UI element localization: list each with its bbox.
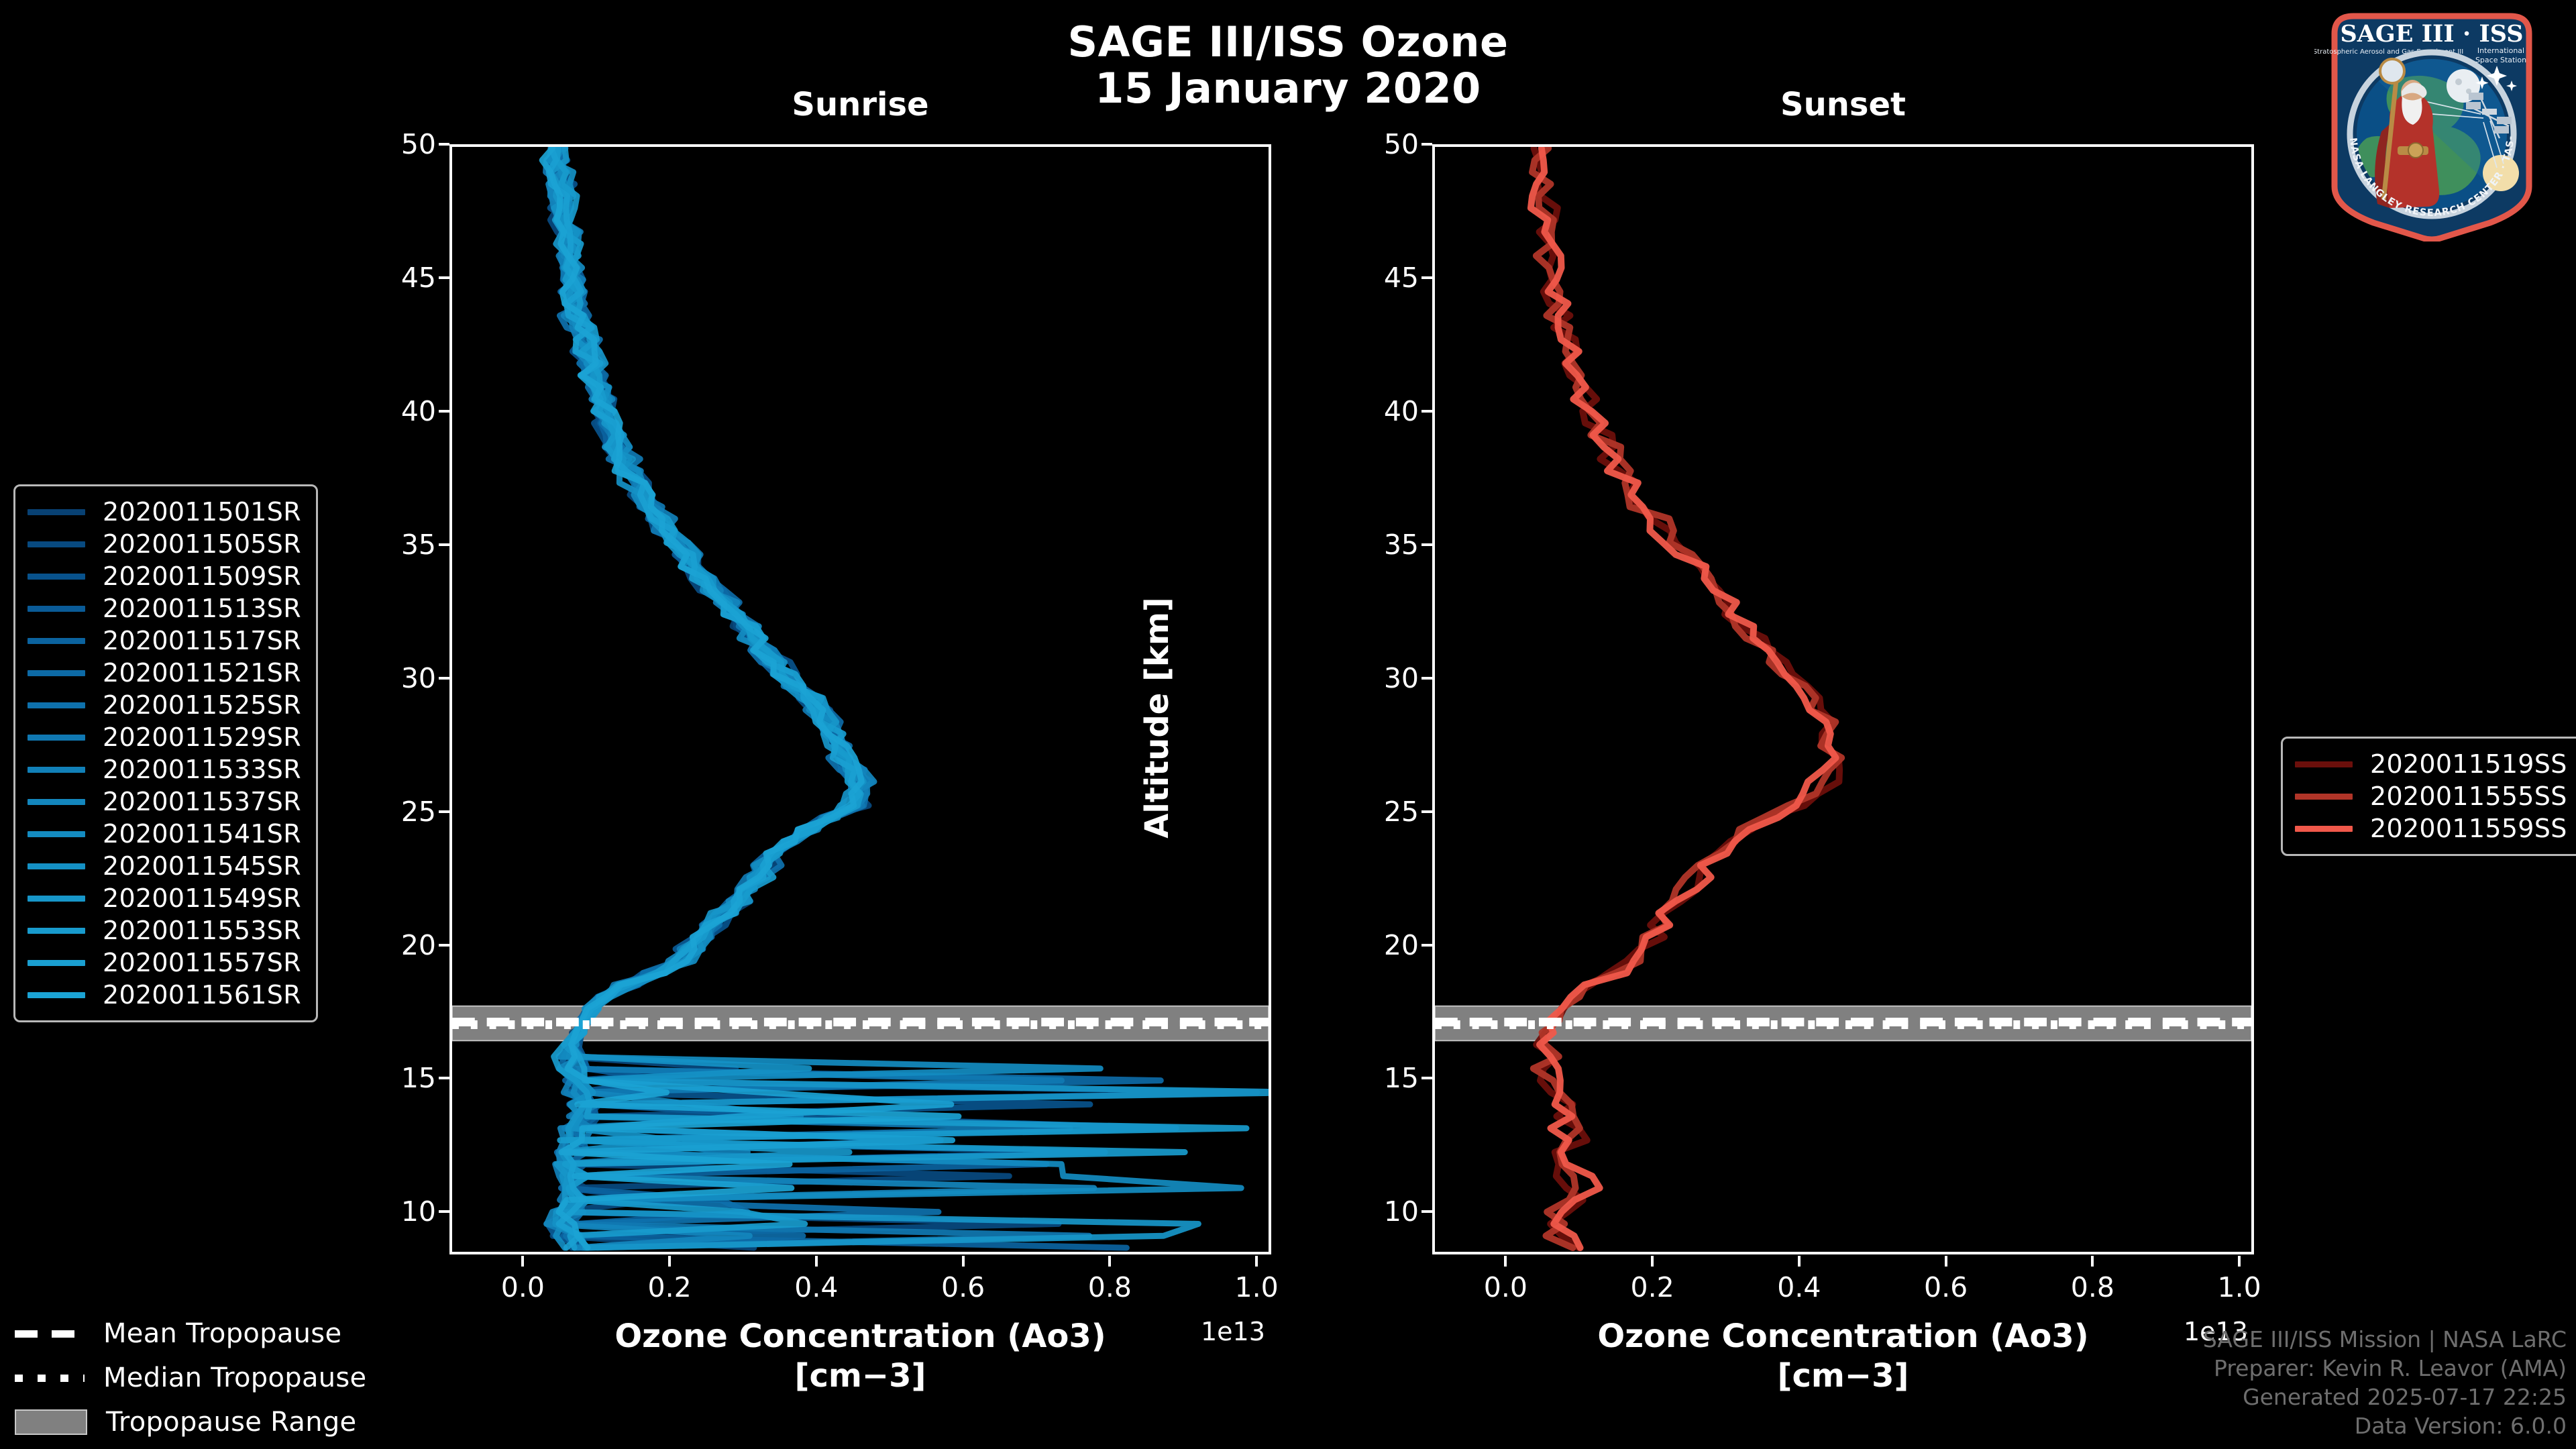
- sunrise-event-legend-label: 2020011557SR: [103, 948, 301, 977]
- sunrise-event-legend-color-swatch: [28, 928, 85, 934]
- sunset-x-tickmark: [2091, 1256, 2094, 1267]
- sunrise-event-legend-color-swatch: [28, 767, 85, 773]
- sunrise-event-legend-item[interactable]: 2020011525SR: [28, 689, 301, 721]
- sunrise-event-legend-label: 2020011537SR: [103, 787, 301, 816]
- sunrise-y-tick-15: 15: [401, 1062, 436, 1094]
- tropopause-legend-label: Mean Tropopause: [103, 1318, 341, 1349]
- sunset-x-tick-0.6: 0.6: [1924, 1271, 1968, 1303]
- sunrise-event-legend-item[interactable]: 2020011529SR: [28, 721, 301, 753]
- sunrise-event-legend-item[interactable]: 2020011549SR: [28, 882, 301, 914]
- sunrise-event-legend-label: 2020011545SR: [103, 851, 301, 881]
- sunrise-event-legend-color-swatch: [28, 638, 85, 644]
- sunrise-event-legend-label: 2020011513SR: [103, 594, 301, 623]
- sunset-x-tickmark: [1798, 1256, 1801, 1267]
- sunrise-event-legend-color-swatch: [28, 735, 85, 741]
- sunrise-event-legend-item[interactable]: 2020011541SR: [28, 818, 301, 850]
- sunrise-y-tick-45: 45: [401, 262, 436, 294]
- sunrise-x-axis-label-line2: [cm−3]: [449, 1356, 1271, 1396]
- sunrise-event-legend-label: 2020011501SR: [103, 497, 301, 527]
- sunset-y-axis-label: Altitude [km]: [1138, 517, 1176, 919]
- sunrise-event-legend-item[interactable]: 2020011537SR: [28, 786, 301, 818]
- sunset-y-tick-20: 20: [1384, 929, 1419, 961]
- sunrise-event-legend-item[interactable]: 2020011545SR: [28, 850, 301, 882]
- sunset-event-legend-label: 2020011555SS: [2370, 782, 2567, 811]
- sunrise-event-legend-color-swatch: [28, 992, 85, 998]
- ozone-profile-line: [1532, 148, 1841, 1248]
- sunrise-event-legend-item[interactable]: 2020011553SR: [28, 914, 301, 947]
- credits-mission: SAGE III/ISS Mission | NASA LaRC: [2203, 1326, 2567, 1354]
- sunset-x-tickmark: [1945, 1256, 1947, 1267]
- sunrise-y-tickmark: [439, 410, 449, 413]
- sunrise-event-legend-color-swatch: [28, 606, 85, 612]
- tropopause-legend-label: Tropopause Range: [106, 1407, 356, 1438]
- credits-generated: Generated 2025-07-17 22:25: [2203, 1383, 2567, 1412]
- sunrise-event-legend-label: 2020011529SR: [103, 722, 301, 752]
- sunset-event-legend[interactable]: 2020011519SS2020011555SS2020011559SS: [2281, 737, 2576, 856]
- sunset-event-legend-item[interactable]: 2020011559SS: [2295, 812, 2567, 845]
- sunrise-event-legend-label: 2020011521SR: [103, 658, 301, 688]
- credits-block: SAGE III/ISS Mission | NASA LaRC Prepare…: [2203, 1326, 2567, 1441]
- sunrise-event-legend-item[interactable]: 2020011521SR: [28, 657, 301, 689]
- tropopause-range-swatch-icon: [15, 1409, 87, 1435]
- tropopause-dashed-swatch-icon: [15, 1330, 85, 1338]
- sunrise-panel-subtitle: Sunrise: [449, 86, 1271, 123]
- sunrise-event-legend-label: 2020011517SR: [103, 626, 301, 655]
- title-line-1: SAGE III/ISS Ozone: [0, 19, 2576, 65]
- sunset-x-tick-labels: 0.00.20.40.60.81.0: [1432, 1271, 2254, 1311]
- sunrise-event-legend-item[interactable]: 2020011557SR: [28, 947, 301, 979]
- sunrise-event-legend-label: 2020011525SR: [103, 690, 301, 720]
- sunrise-event-legend-color-swatch: [28, 541, 85, 547]
- sunset-event-legend-color-swatch: [2295, 761, 2353, 767]
- tropopause-legend: Mean TropopauseMedian TropopauseTropopau…: [15, 1311, 366, 1444]
- sunrise-y-tickmark: [439, 143, 449, 146]
- sunrise-event-legend-color-swatch: [28, 799, 85, 805]
- sunset-y-tickmark: [1421, 1210, 1432, 1213]
- sunrise-y-tick-40: 40: [401, 395, 436, 427]
- sunrise-event-legend[interactable]: 2020011501SR2020011505SR2020011509SR2020…: [13, 484, 318, 1022]
- sunset-plot-canvas: [1435, 147, 2251, 1252]
- sunrise-event-legend-color-swatch: [28, 670, 85, 676]
- sunset-y-tick-10: 10: [1384, 1195, 1419, 1228]
- sunset-x-tick-0.2: 0.2: [1631, 1271, 1674, 1303]
- sunrise-event-legend-item[interactable]: 2020011509SR: [28, 560, 301, 592]
- sunrise-event-legend-color-swatch: [28, 509, 85, 515]
- sunrise-event-legend-item[interactable]: 2020011513SR: [28, 592, 301, 625]
- sunrise-y-tickmark: [439, 543, 449, 546]
- sunrise-x-tick-0.2: 0.2: [648, 1271, 692, 1303]
- sunrise-y-tickmark: [439, 276, 449, 279]
- credits-data-version: Data Version: 6.0.0: [2203, 1412, 2567, 1441]
- sunrise-x-axis-label: Ozone Concentration (Ao3) [cm−3]: [449, 1317, 1271, 1395]
- sunrise-y-tickmark: [439, 1077, 449, 1079]
- sunset-x-tick-0.0: 0.0: [1484, 1271, 1527, 1303]
- sunrise-event-legend-label: 2020011533SR: [103, 755, 301, 784]
- sunset-event-legend-label: 2020011519SS: [2370, 749, 2567, 779]
- sunset-y-tick-40: 40: [1384, 395, 1419, 427]
- sunset-y-tick-15: 15: [1384, 1062, 1419, 1094]
- sunrise-x-tick-marks: [449, 1254, 1271, 1268]
- patch-subtitle-right-2: Space Station: [2475, 56, 2526, 64]
- sunset-x-tickmark: [1651, 1256, 1654, 1267]
- sunset-y-tickmark: [1421, 1077, 1432, 1079]
- sunrise-x-tickmark: [815, 1256, 818, 1267]
- sunrise-event-legend-color-swatch: [28, 863, 85, 869]
- sunset-event-legend-item[interactable]: 2020011519SS: [2295, 748, 2567, 780]
- sunrise-event-legend-label: 2020011505SR: [103, 529, 301, 559]
- sunset-x-tickmark: [1504, 1256, 1507, 1267]
- sunrise-y-tickmark: [439, 944, 449, 947]
- sunrise-x-tick-1.0: 1.0: [1235, 1271, 1279, 1303]
- sunset-y-tick-30: 30: [1384, 662, 1419, 694]
- sunrise-y-tickmark: [439, 677, 449, 680]
- tropopause-dotted-swatch-icon: [15, 1375, 85, 1382]
- sunrise-event-legend-label: 2020011549SR: [103, 883, 301, 913]
- sunset-y-tickmark: [1421, 543, 1432, 546]
- sunrise-x-tickmark: [521, 1256, 524, 1267]
- sunset-panel-subtitle: Sunset: [1432, 86, 2254, 123]
- sunrise-x-tick-labels: 0.00.20.40.60.81.0: [449, 1271, 1271, 1311]
- sunset-x-tick-1.0: 1.0: [2218, 1271, 2261, 1303]
- sunset-x-tick-0.8: 0.8: [2071, 1271, 2114, 1303]
- sunrise-event-legend-color-swatch: [28, 702, 85, 708]
- sunrise-event-legend-color-swatch: [28, 574, 85, 580]
- credits-preparer: Preparer: Kevin R. Leavor (AMA): [2203, 1354, 2567, 1383]
- sunset-y-tick-50: 50: [1384, 128, 1419, 160]
- sunset-y-tick-25: 25: [1384, 796, 1419, 828]
- sunrise-x-tick-0.0: 0.0: [501, 1271, 545, 1303]
- sunrise-event-legend-color-swatch: [28, 831, 85, 837]
- sunrise-y-tickmark: [439, 1210, 449, 1213]
- sunrise-event-legend-item[interactable]: 2020011533SR: [28, 753, 301, 786]
- sage-patch-icon: SAGE III · ISS Stratospheric Aerosol and…: [2314, 7, 2549, 241]
- sunrise-y-tick-20: 20: [401, 929, 436, 961]
- sunset-x-tick-marks: [1432, 1254, 2254, 1268]
- sunrise-event-legend-label: 2020011509SR: [103, 561, 301, 591]
- sunrise-y-tick-25: 25: [401, 796, 436, 828]
- sunset-y-tick-marks: [1419, 144, 1432, 1254]
- tropopause-legend-label: Median Tropopause: [103, 1362, 366, 1393]
- sunset-plot-area[interactable]: [1432, 144, 2254, 1254]
- sunrise-event-legend-item[interactable]: 2020011561SR: [28, 979, 301, 1011]
- sunset-y-tickmark: [1421, 276, 1432, 279]
- sunrise-event-legend-color-swatch: [28, 896, 85, 902]
- sunrise-x-tickmark: [1108, 1256, 1111, 1267]
- sunrise-event-legend-label: 2020011553SR: [103, 916, 301, 945]
- sunset-y-tickmark: [1421, 810, 1432, 813]
- sunrise-event-legend-item[interactable]: 2020011517SR: [28, 625, 301, 657]
- sage-mission-patch: SAGE III · ISS Stratospheric Aerosol and…: [2314, 7, 2549, 244]
- sunrise-event-legend-item[interactable]: 2020011505SR: [28, 528, 301, 560]
- sunrise-event-legend-color-swatch: [28, 960, 85, 966]
- sunset-x-axis-label-line2: [cm−3]: [1432, 1356, 2254, 1396]
- sunrise-x-tickmark: [1255, 1256, 1258, 1267]
- ozone-profile-line: [1531, 148, 1836, 1248]
- sunset-x-axis-label: Ozone Concentration (Ao3) [cm−3]: [1432, 1317, 2254, 1395]
- sunrise-y-tick-10: 10: [401, 1195, 436, 1228]
- sunrise-x-tick-0.8: 0.8: [1088, 1271, 1132, 1303]
- tropopause-legend-item: Tropopause Range: [15, 1400, 366, 1444]
- sunset-y-tickmark: [1421, 677, 1432, 680]
- sunrise-x-tickmark: [962, 1256, 965, 1267]
- sunset-event-legend-item[interactable]: 2020011555SS: [2295, 780, 2567, 812]
- patch-title: SAGE III · ISS: [2340, 20, 2523, 48]
- sunset-y-tickmark: [1421, 143, 1432, 146]
- sunrise-event-legend-label: 2020011541SR: [103, 819, 301, 849]
- sunrise-y-tickmark: [439, 810, 449, 813]
- sunset-y-tick-labels: 101520253035404550: [1251, 144, 1419, 1254]
- sunset-y-tick-45: 45: [1384, 262, 1419, 294]
- sunset-x-tickmark: [2238, 1256, 2241, 1267]
- sunrise-y-tick-30: 30: [401, 662, 436, 694]
- sunrise-x-tick-0.4: 0.4: [794, 1271, 838, 1303]
- sunrise-x-tick-0.6: 0.6: [941, 1271, 985, 1303]
- sunset-y-tickmark: [1421, 410, 1432, 413]
- sunrise-y-tick-50: 50: [401, 128, 436, 160]
- sunrise-x-tickmark: [668, 1256, 671, 1267]
- ozone-profile-line: [1534, 148, 1840, 1248]
- sunset-event-legend-color-swatch: [2295, 794, 2353, 800]
- sunset-event-legend-label: 2020011559SS: [2370, 814, 2567, 843]
- sunset-y-tick-35: 35: [1384, 529, 1419, 561]
- sunset-y-tickmark: [1421, 944, 1432, 947]
- sunrise-x-axis-label-line1: Ozone Concentration (Ao3): [449, 1317, 1271, 1356]
- tropopause-legend-item: Mean Tropopause: [15, 1311, 366, 1356]
- tropopause-legend-item: Median Tropopause: [15, 1356, 366, 1400]
- sunrise-event-legend-label: 2020011561SR: [103, 980, 301, 1010]
- sunset-x-tick-0.4: 0.4: [1777, 1271, 1821, 1303]
- sunset-event-legend-color-swatch: [2295, 826, 2353, 832]
- sunrise-event-legend-item[interactable]: 2020011501SR: [28, 496, 301, 528]
- patch-subtitle-right-1: International: [2477, 46, 2524, 55]
- sunrise-y-tick-35: 35: [401, 529, 436, 561]
- sunrise-y-tick-marks: [436, 144, 449, 1254]
- sunset-x-axis-label-line1: Ozone Concentration (Ao3): [1432, 1317, 2254, 1356]
